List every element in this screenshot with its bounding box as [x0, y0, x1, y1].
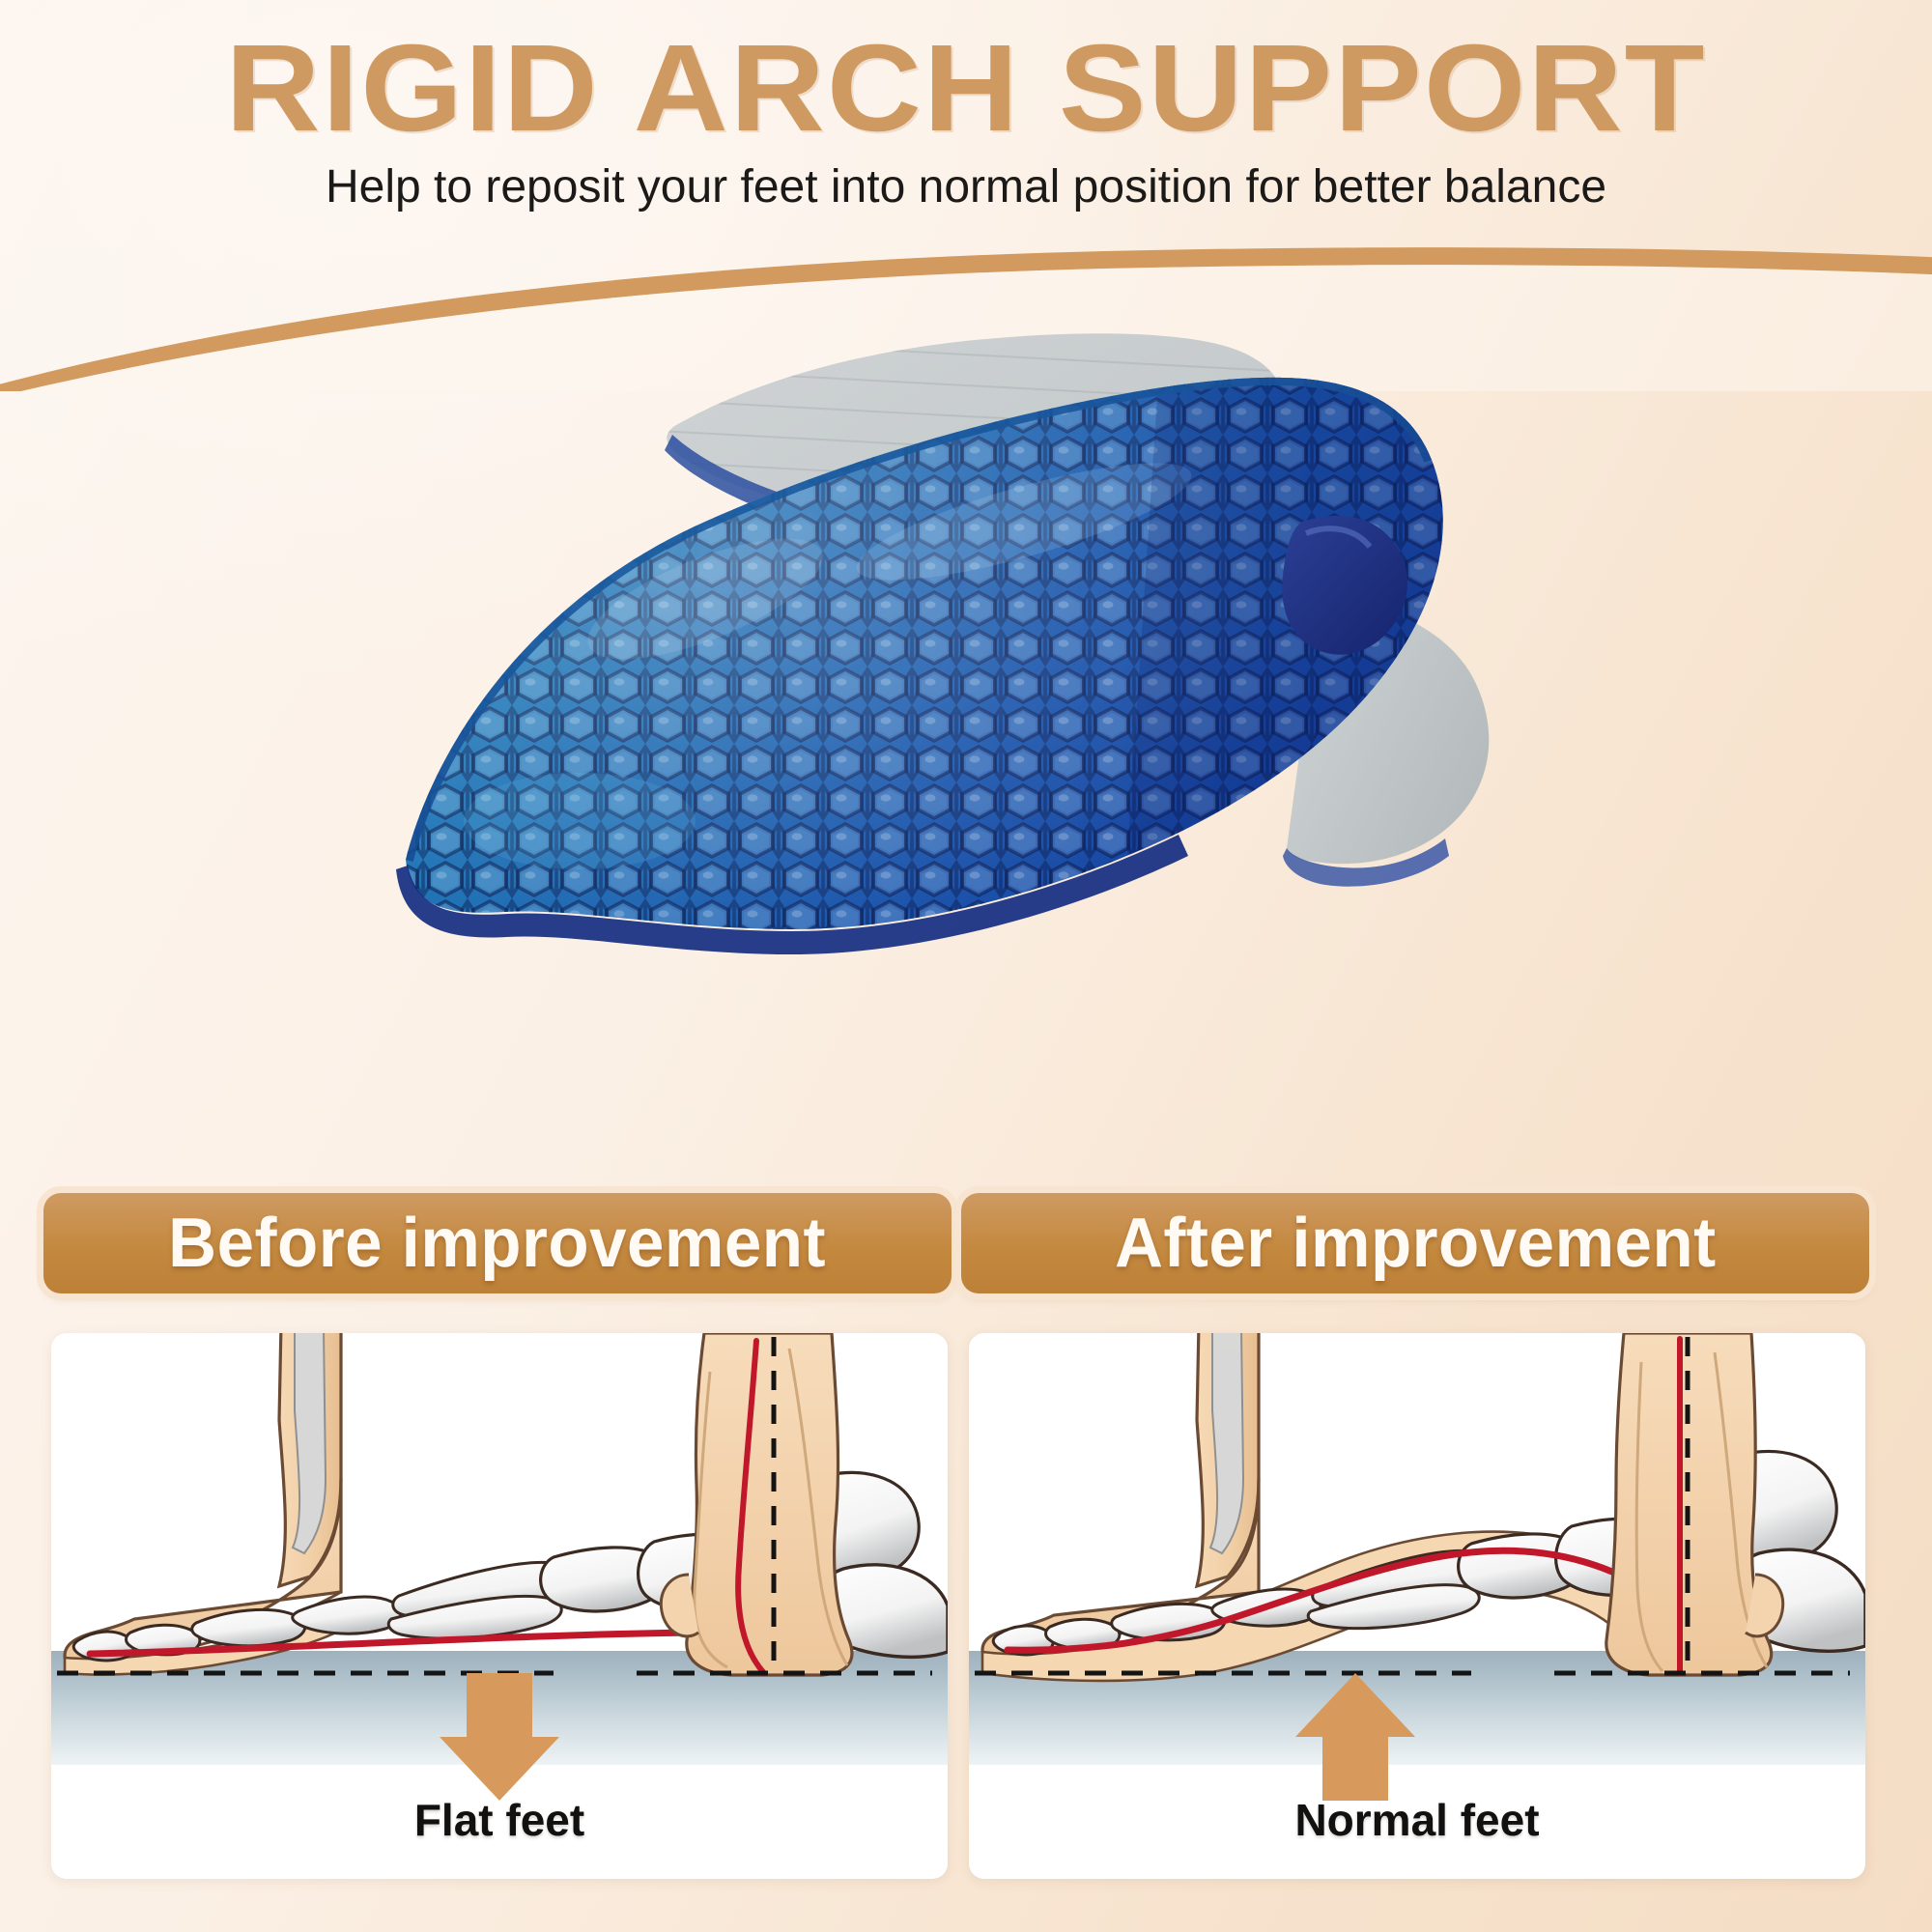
caption-normal-feet: Normal feet: [969, 1794, 1865, 1846]
banner-after: After improvement: [961, 1193, 1869, 1293]
header: RIGID ARCH SUPPORT Help to reposit your …: [0, 0, 1932, 290]
banner-after-label: After improvement: [1115, 1204, 1717, 1283]
banner-before: Before improvement: [43, 1193, 952, 1293]
banner-before-label: Before improvement: [169, 1204, 827, 1283]
card-before: Flat feet: [51, 1333, 948, 1879]
product-poster: RIGID ARCH SUPPORT Help to reposit your …: [0, 0, 1932, 1932]
caption-flat-feet: Flat feet: [51, 1794, 948, 1846]
panel-before: Before improvement: [43, 1193, 971, 1932]
panel-after: After improvement: [961, 1193, 1889, 1932]
page-title: RIGID ARCH SUPPORT: [0, 27, 1932, 151]
arrow-up-icon: [1295, 1673, 1415, 1801]
page-subtitle: Help to reposit your feet into normal po…: [0, 164, 1932, 211]
before-after-comparison: Before improvement: [0, 1193, 1932, 1932]
product-photo: [290, 280, 1642, 1198]
arrow-down-icon: [440, 1673, 559, 1801]
card-after: Normal feet: [969, 1333, 1865, 1879]
